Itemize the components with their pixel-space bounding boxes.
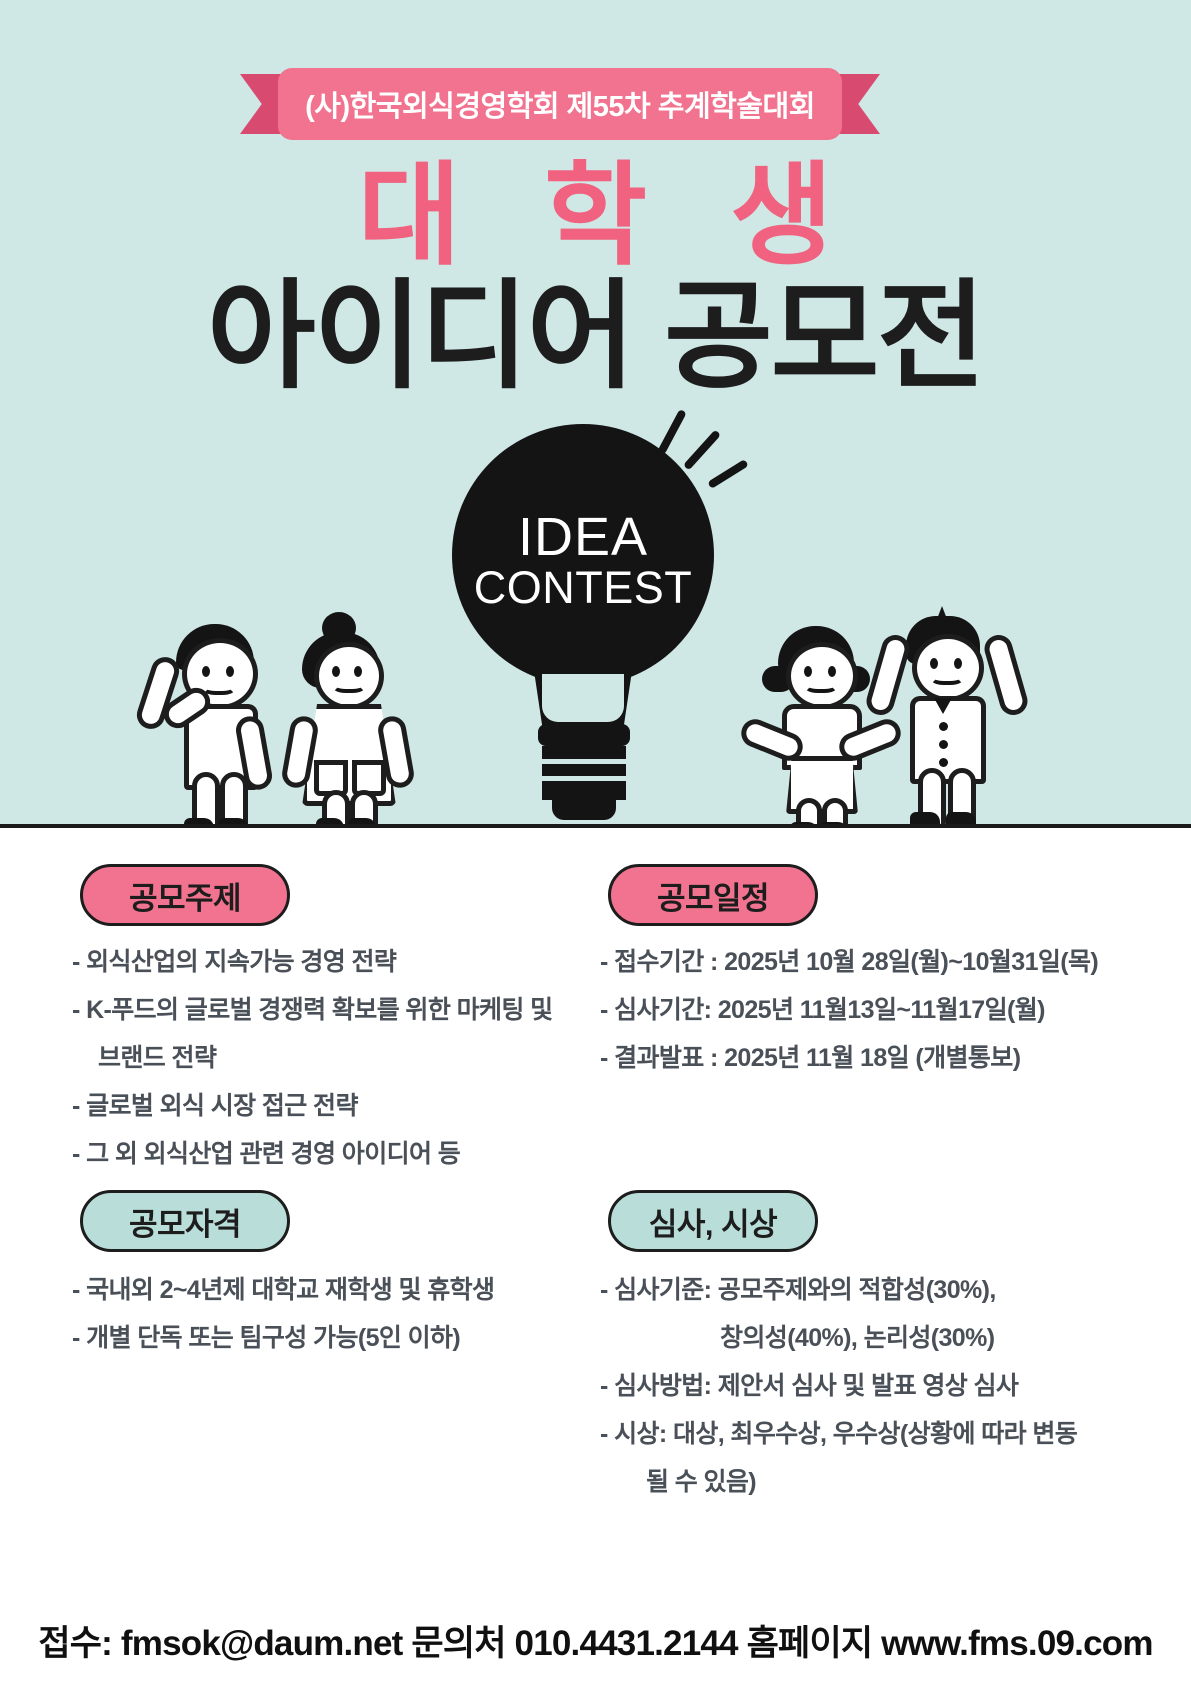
lightbulb-neck-inner <box>542 674 624 722</box>
list-item: - 접수기간 : 2025년 10월 28일(월)~10월31일(목) <box>600 950 1160 975</box>
button <box>939 758 948 767</box>
footer-contact-bar: 접수: fmsok@daum.net 문의처 010.4431.2144 홈페이… <box>0 1596 1191 1684</box>
ribbon-body: (사)한국외식경영학회 제55차 추계학술대회 <box>278 68 842 140</box>
list-item: - 국내외 2~4년제 대학교 재학생 및 휴학생 <box>72 1278 592 1303</box>
hero-section: (사)한국외식경영학회 제55차 추계학술대회 대 학 생 아이디어 공모전 I… <box>0 0 1191 828</box>
badge-topic-label: 공모주제 <box>129 873 241 918</box>
badge-topic: 공모주제 <box>80 864 290 926</box>
badge-judging-label: 심사, 시상 <box>649 1199 777 1244</box>
button <box>939 740 948 749</box>
list-item: - 심사기준: 공모주제와의 적합성(30%), <box>600 1278 1170 1303</box>
character-girl-bun <box>272 612 402 822</box>
character-boy-cheering <box>866 606 1016 822</box>
list-item: - 심사기간: 2025년 11월13일~11월17일(월) <box>600 998 1160 1023</box>
badge-schedule: 공모일정 <box>608 864 818 926</box>
badge-eligibility-label: 공모자격 <box>129 1199 241 1244</box>
list-item: - 글로벌 외식 시장 접근 전략 <box>72 1094 592 1119</box>
list-item: - 결과발표 : 2025년 11월 18일 (개별통보) <box>600 1046 1160 1071</box>
list-item: - 외식산업의 지속가능 경영 전략 <box>72 950 592 975</box>
topic-list: - 외식산업의 지속가능 경영 전략 - K-푸드의 글로벌 경쟁력 확보를 위… <box>72 950 592 1190</box>
headline-primary: 대 학 생 <box>0 160 1191 272</box>
character-girl-pigtails <box>742 622 882 822</box>
lightbulb-screw-base <box>542 746 626 800</box>
badge-judging: 심사, 시상 <box>608 1190 818 1252</box>
list-item: - 시상: 대상, 최우수상, 우수상(상황에 따라 변동 <box>600 1422 1170 1447</box>
list-item: - 심사방법: 제안서 심사 및 발표 영상 심사 <box>600 1374 1170 1399</box>
arm-raised <box>863 632 913 719</box>
arm-raised <box>981 632 1031 719</box>
schedule-list: - 접수기간 : 2025년 10월 28일(월)~10월31일(목) - 심사… <box>600 950 1160 1094</box>
eye <box>226 666 234 677</box>
eligibility-list: - 국내외 2~4년제 대학교 재학생 및 휴학생 - 개별 단독 또는 팀구성… <box>72 1278 592 1374</box>
smile <box>332 676 366 693</box>
light-ray-icon <box>657 409 687 455</box>
lightbulb-tip <box>552 798 616 820</box>
button <box>939 722 948 731</box>
list-item: 될 수 있음) <box>600 1470 1170 1495</box>
smile <box>804 676 838 693</box>
light-ray-icon <box>683 429 721 470</box>
ribbon-text: (사)한국외식경영학회 제55차 추계학술대회 <box>305 83 815 125</box>
torso <box>910 696 986 784</box>
list-item: - K-푸드의 글로벌 경쟁력 확보를 위한 마케팅 및 <box>72 998 592 1023</box>
lightbulb-glass-icon <box>452 424 714 686</box>
lightbulb-collar <box>538 724 630 746</box>
eye <box>202 666 210 677</box>
info-section: 공모주제 - 외식산업의 지속가능 경영 전략 - K-푸드의 글로벌 경쟁력 … <box>0 832 1191 1684</box>
judging-list: - 심사기준: 공모주제와의 적합성(30%), 창의성(40%), 논리성(3… <box>600 1278 1170 1518</box>
smile <box>930 668 964 685</box>
list-item: - 개별 단독 또는 팀구성 가능(5인 이하) <box>72 1326 592 1351</box>
hero-divider <box>0 824 1191 828</box>
event-ribbon: (사)한국외식경영학회 제55차 추계학술대회 <box>240 68 880 140</box>
headline-secondary: 아이디어 공모전 <box>0 278 1191 396</box>
badge-eligibility: 공모자격 <box>80 1190 290 1252</box>
footer-contact-text: 접수: fmsok@daum.net 문의처 010.4431.2144 홈페이… <box>38 1615 1152 1666</box>
list-item: - 그 외 외식산업 관련 경영 아이디어 등 <box>72 1142 592 1167</box>
character-boy-waving <box>140 620 270 820</box>
light-ray-icon <box>707 459 749 489</box>
badge-schedule-label: 공모일정 <box>657 873 769 918</box>
list-item: 창의성(40%), 논리성(30%) <box>600 1326 1170 1351</box>
lightbulb-illustration: IDEA CONTEST <box>452 424 718 824</box>
list-item: 브랜드 전략 <box>72 1046 592 1071</box>
poster-root: (사)한국외식경영학회 제55차 추계학술대회 대 학 생 아이디어 공모전 I… <box>0 0 1191 1684</box>
